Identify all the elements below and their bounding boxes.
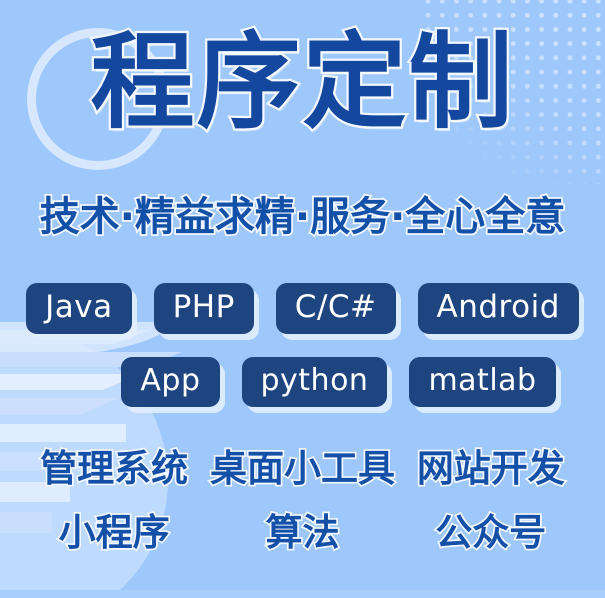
poster-subtitle: 技术·精益求精·服务·全心全意 (0, 184, 605, 242)
service-item-desktop-tool[interactable]: 桌面小工具 (208, 442, 396, 496)
service-item-algorithm[interactable]: 算法 (208, 506, 396, 560)
bottom-strip (0, 590, 605, 598)
tech-badge-java[interactable]: Java (26, 283, 131, 334)
stripe-band (0, 424, 126, 442)
tech-badge-row-2: App python matlab (0, 357, 605, 407)
tech-badge-app[interactable]: App (121, 357, 219, 407)
tech-badge-php[interactable]: PHP (154, 283, 254, 334)
poster-title: 程序定制 (0, 26, 605, 138)
promo-poster: 程序定制 技术·精益求精·服务·全心全意 Java PHP C/C# Andro… (0, 0, 605, 598)
service-item-management-system[interactable]: 管理系统 (20, 442, 208, 496)
tech-badge-python[interactable]: python (242, 357, 388, 407)
service-item-mini-program[interactable]: 小程序 (20, 506, 208, 560)
tech-badge-c-csharp[interactable]: C/C# (276, 283, 396, 334)
service-item-website-dev[interactable]: 网站开发 (397, 442, 585, 496)
tech-badge-matlab[interactable]: matlab (409, 357, 555, 407)
tech-badge-row-1: Java PHP C/C# Android (0, 283, 605, 334)
tech-badge-android[interactable]: Android (418, 283, 579, 334)
service-item-official-account[interactable]: 公众号 (397, 506, 585, 560)
service-keyword-grid: 管理系统 桌面小工具 网站开发 小程序 算法 公众号 (0, 442, 605, 559)
